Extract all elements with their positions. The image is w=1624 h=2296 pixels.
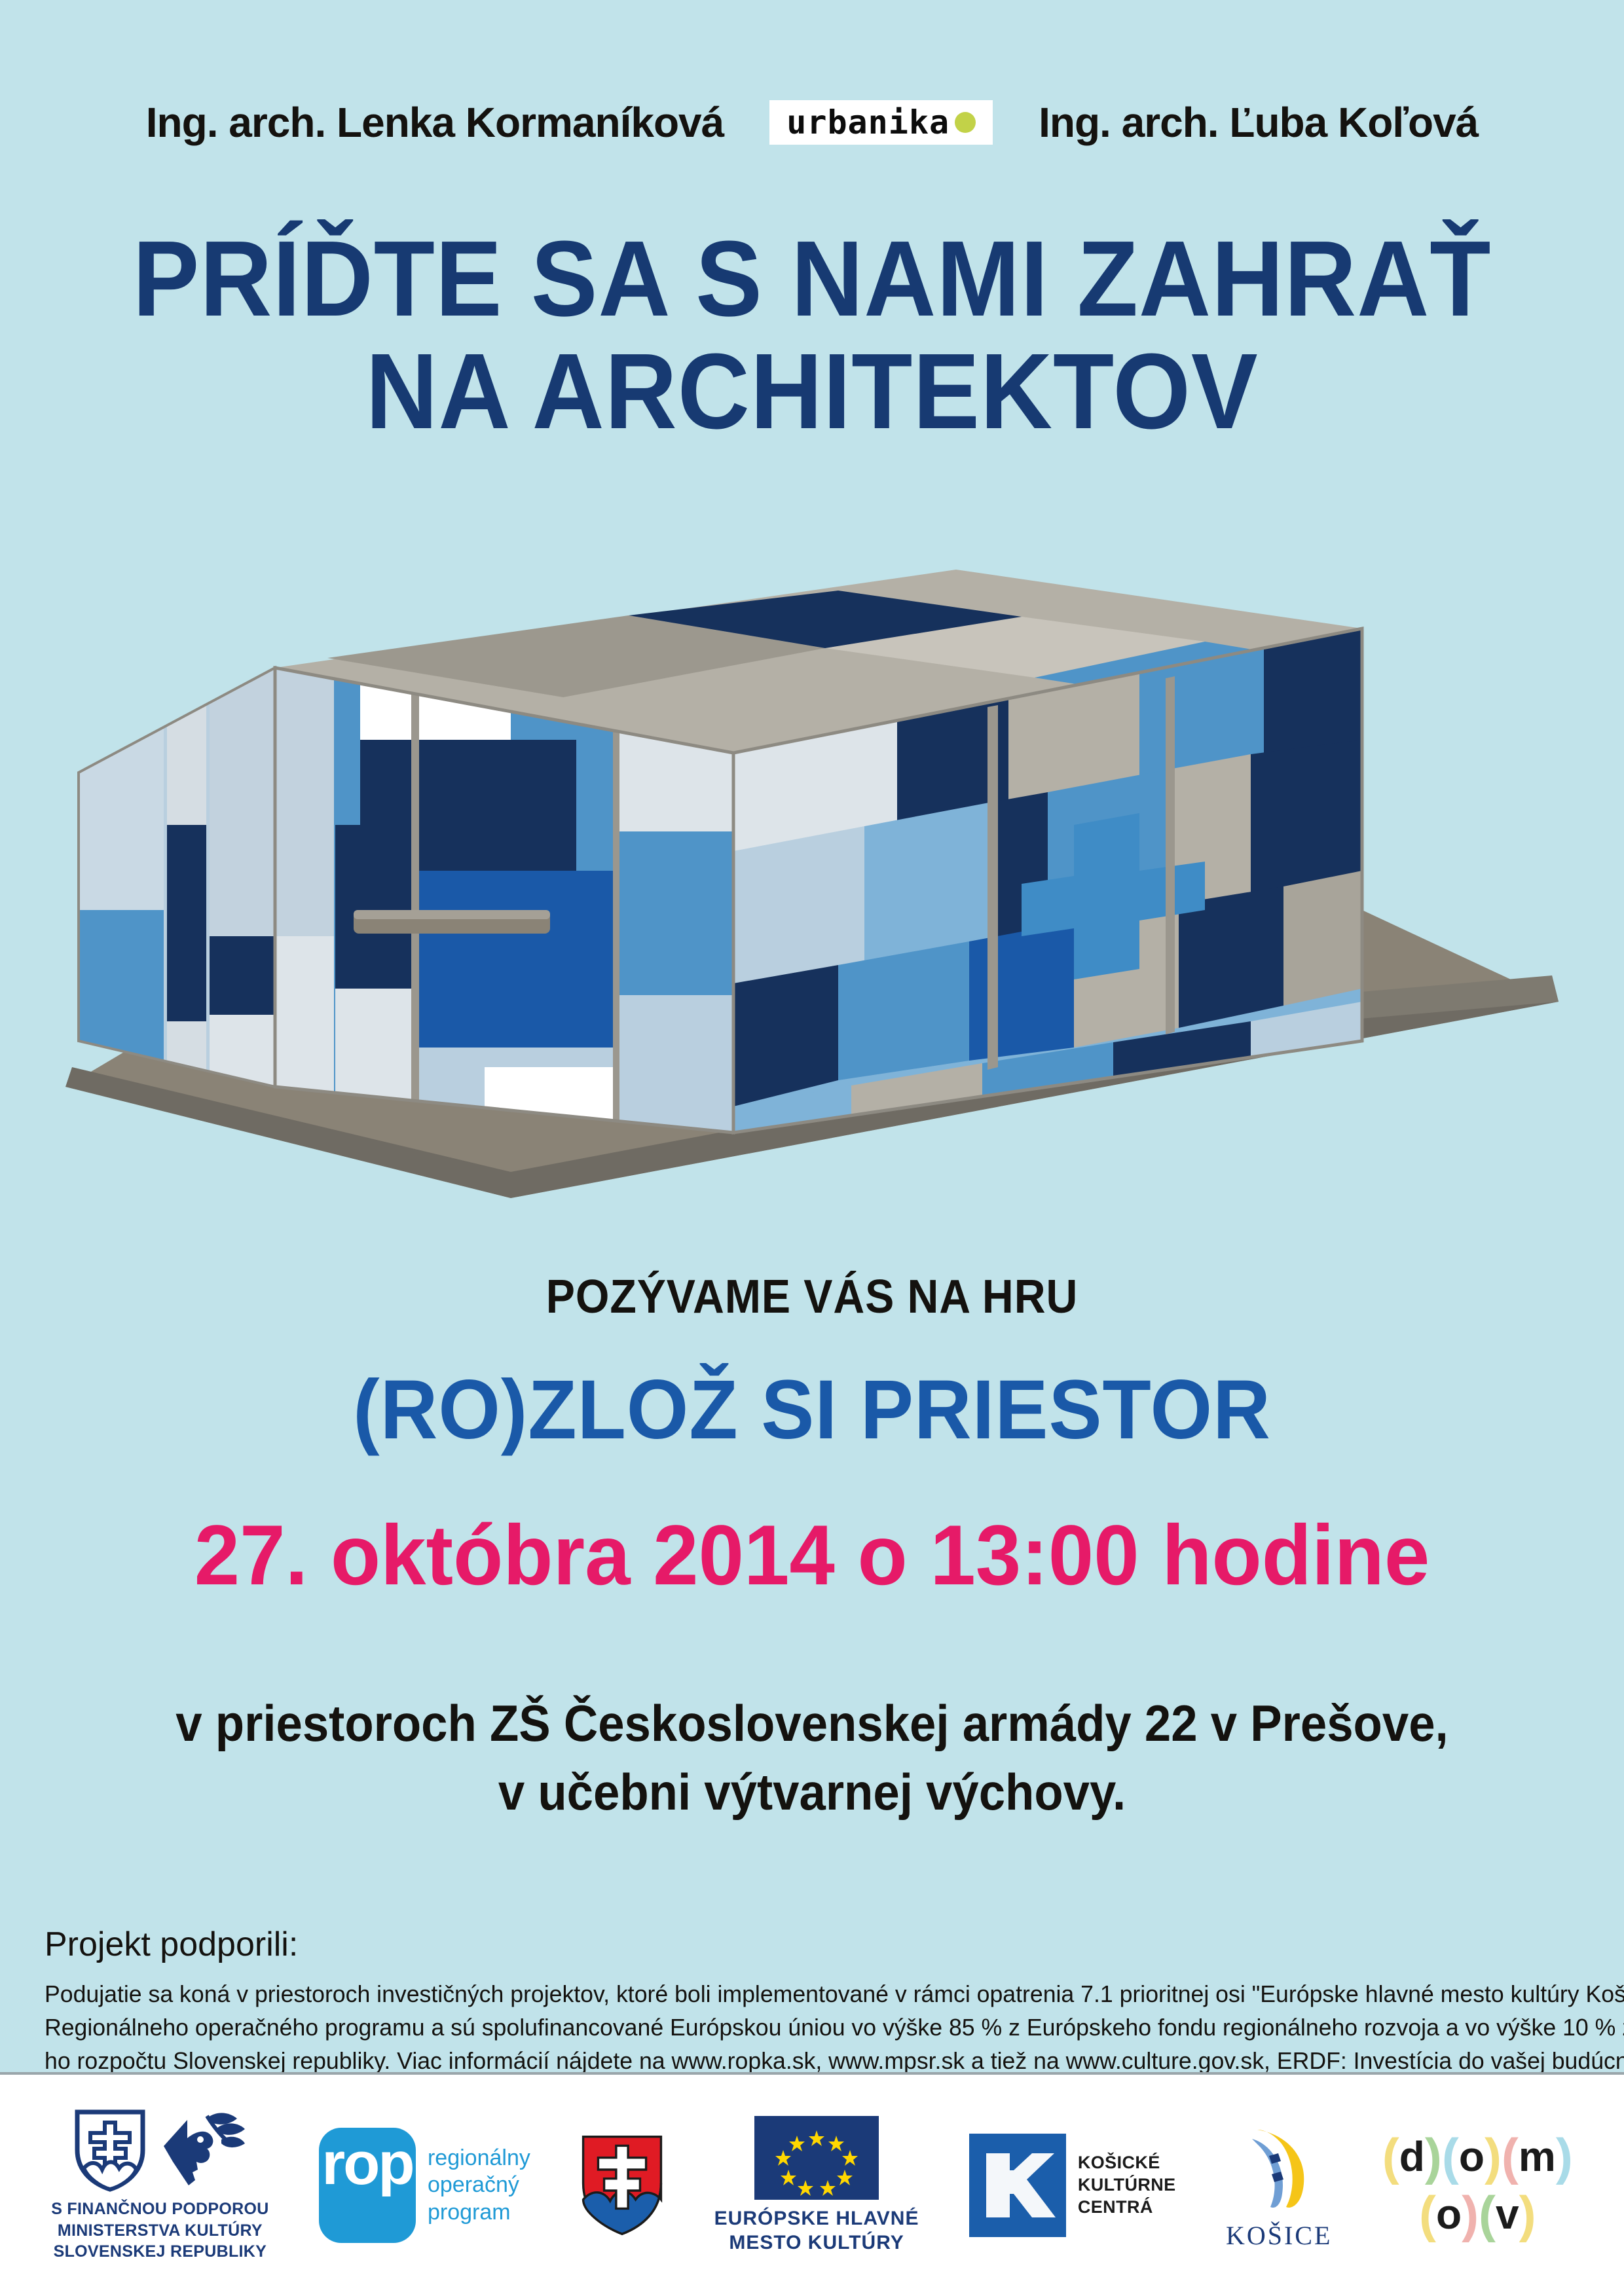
poster-root: Ing. arch. Lenka Kormaníková urbanika In… [0, 0, 1624, 2296]
kkc-label: KOŠICKÉ KULTÚRNE CENTRÁ [1078, 2152, 1176, 2218]
rop-label-2: operačný [428, 2172, 519, 2197]
slovak-coat-of-arms [580, 2134, 664, 2237]
page-title: PRÍĎTE SA S NAMI ZAHRAŤ NA ARCHITEKTOV [0, 223, 1624, 448]
paren-close-3: ) [1556, 2131, 1573, 2182]
game-title: (RO)ZLOŽ SI PRIESTOR [41, 1362, 1583, 1458]
kosice-city-logo: KOŠICE [1226, 2121, 1332, 2251]
ministry-of-culture-logo: S FINANČNOU PODPOROU MINISTERSTVA KULTÚR… [51, 2108, 268, 2263]
ministry-label: S FINANČNOU PODPOROU MINISTERSTVA KULTÚR… [51, 2198, 268, 2263]
invite-text: POZÝVAME VÁS NA HRU [65, 1270, 1559, 1324]
kosicke-kulturne-centra-logo: KOŠICKÉ KULTÚRNE CENTRÁ [969, 2134, 1176, 2237]
domov-letter-d: d [1399, 2136, 1425, 2178]
author-left: Ing. arch. Lenka Kormaníková [146, 98, 724, 147]
domov-logo: ( d ) ( o ) ( m ) ( o ) ( v ) [1382, 2131, 1573, 2240]
header: Ing. arch. Lenka Kormaníková urbanika In… [0, 98, 1624, 147]
rop-logo: rop regionálny operačný program [319, 2128, 530, 2243]
paren-close-4: ) [1462, 2189, 1479, 2240]
domov-row-2: ( o ) ( v ) [1419, 2189, 1536, 2240]
paren-close-2: ) [1485, 2131, 1502, 2182]
event-venue: v priestoroch ZŠ Československej armády … [57, 1689, 1567, 1827]
event-date: 27. októbra 2014 o 13:00 hodine [33, 1506, 1592, 1604]
urbanika-wordmark: urbanika [786, 106, 950, 139]
kosice-label: KOŠICE [1226, 2220, 1332, 2251]
title-line-2: NA ARCHITEKTOV [57, 335, 1567, 448]
kosice-moon-face-icon [1240, 2121, 1318, 2214]
kkc-label-3: CENTRÁ [1078, 2197, 1153, 2217]
ministry-label-2: MINISTERSTVA KULTÚRY [58, 2221, 263, 2240]
title-line-1: PRÍĎTE SA S NAMI ZAHRAŤ [57, 223, 1567, 335]
kkc-label-1: KOŠICKÉ [1078, 2153, 1160, 2172]
paren-close-1: ) [1425, 2131, 1442, 2182]
model-svg [52, 543, 1572, 1198]
muse-face-laurel-icon [161, 2108, 246, 2192]
venue-line-1: v priestoroch ZŠ Československej armády … [57, 1689, 1567, 1758]
disclaimer-line-2: Regionálneho operačného programu a sú sp… [45, 2011, 1574, 2044]
ministry-label-3: SLOVENSKEJ REPUBLIKY [54, 2242, 267, 2261]
paren-close-5: ) [1519, 2189, 1536, 2240]
paren-open-5: ( [1479, 2189, 1496, 2240]
urbanika-logo: urbanika [769, 100, 993, 145]
domov-letter-o1: o [1459, 2136, 1485, 2178]
rop-wordmark: rop [322, 2137, 413, 2191]
architectural-model-illustration [0, 543, 1624, 1198]
rop-label-3: program [428, 2200, 511, 2225]
eu-capital-label-1: EURÓPSKE HLAVNÉ [714, 2208, 919, 2229]
venue-line-2: v učebni výtvarnej výchovy. [57, 1758, 1567, 1827]
eu-capital-label-2: MESTO KULTÚRY [729, 2232, 904, 2253]
disclaimer-text: Podujatie sa koná v priestoroch investič… [45, 1977, 1574, 2077]
paren-open-4: ( [1419, 2189, 1436, 2240]
kkc-label-2: KULTÚRNE [1078, 2175, 1176, 2195]
kkc-k-mark-icon [969, 2134, 1066, 2237]
rop-label: regionálny operačný program [428, 2145, 530, 2226]
domov-row-1: ( d ) ( o ) ( m ) [1382, 2131, 1573, 2182]
support-heading: Projekt podporili: [45, 1925, 298, 1964]
domov-letter-m: m [1519, 2136, 1556, 2178]
domov-letter-o2: o [1436, 2193, 1462, 2235]
paren-open-1: ( [1382, 2131, 1399, 2182]
eu-capital-label: EURÓPSKE HLAVNÉ MESTO KULTÚRY [714, 2206, 919, 2255]
paren-open-3: ( [1502, 2131, 1519, 2182]
slovak-coat-of-arms-icon [580, 2134, 664, 2237]
ministry-label-1: S FINANČNOU PODPOROU [51, 2200, 268, 2218]
slovak-shield-outline-icon [73, 2108, 147, 2192]
rop-label-1: regionálny [428, 2145, 530, 2170]
paren-open-2: ( [1442, 2131, 1459, 2182]
urbanika-dot-icon [955, 112, 976, 133]
author-right: Ing. arch. Ľuba Koľová [1039, 98, 1478, 147]
sponsor-logo-band: S FINANČNOU PODPOROU MINISTERSTVA KULTÚR… [0, 2072, 1624, 2296]
eu-flag-icon [754, 2116, 879, 2200]
european-capital-of-culture-logo: EURÓPSKE HLAVNÉ MESTO KULTÚRY [714, 2116, 919, 2255]
domov-letter-v: v [1496, 2193, 1519, 2235]
disclaimer-line-1: Podujatie sa koná v priestoroch investič… [45, 1977, 1574, 2011]
